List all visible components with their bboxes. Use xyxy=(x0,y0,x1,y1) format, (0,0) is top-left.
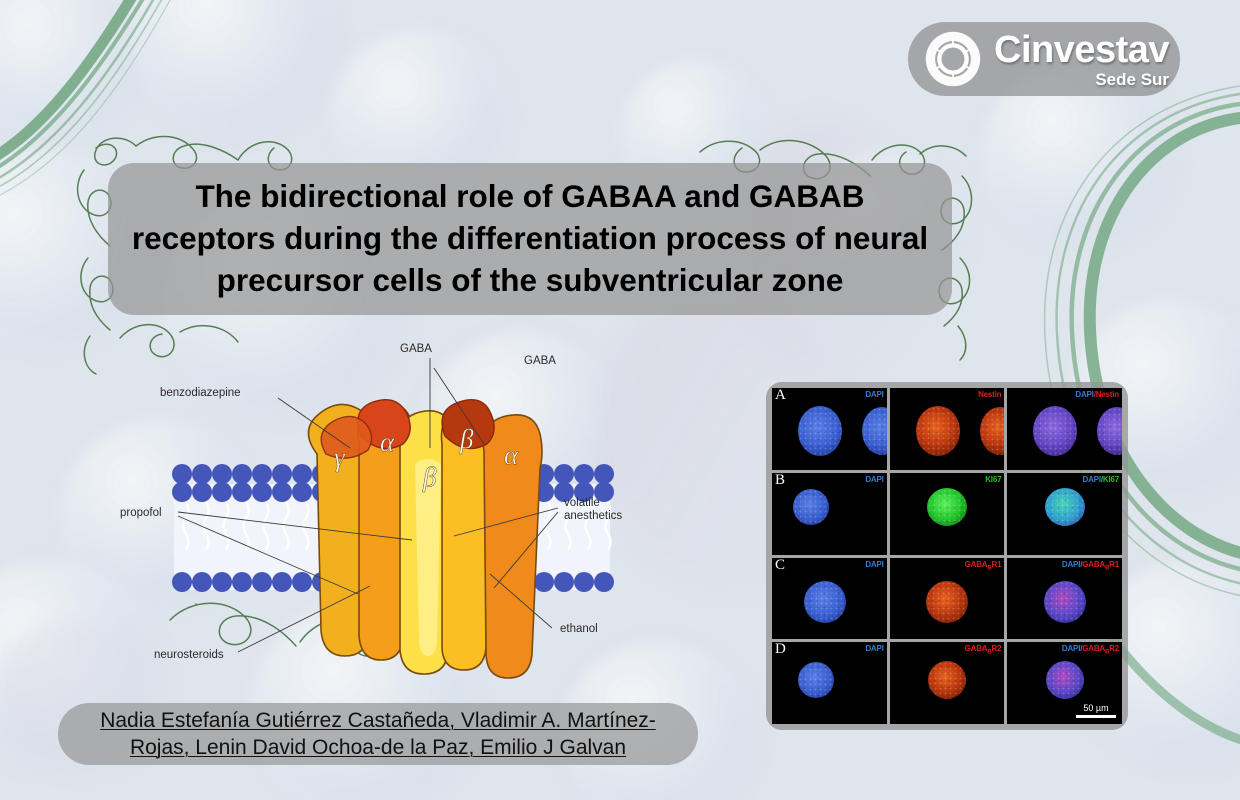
author-plaque: Nadia Estefanía Gutiérrez Castañeda, Vla… xyxy=(58,703,698,765)
cell-blob xyxy=(1046,661,1084,699)
micro-panel[interactable]: DAPI/Nestin xyxy=(1007,388,1122,470)
author-list: Nadia Estefanía Gutiérrez Castañeda, Vla… xyxy=(58,707,698,762)
cell-blob xyxy=(927,488,967,526)
micro-panel[interactable]: KI67 xyxy=(890,473,1005,555)
panel-channel-tag: DAPI/KI67 xyxy=(1083,475,1119,484)
cell-blob xyxy=(1097,407,1122,455)
panel-channel-tag: DAPI xyxy=(865,475,883,484)
micro-panel[interactable]: GABABR1 xyxy=(890,558,1005,640)
micro-panel[interactable]: GABABR2 xyxy=(890,642,1005,724)
panel-channel-tag: DAPI/Nestin xyxy=(1075,390,1119,399)
micro-panel[interactable]: A DAPI xyxy=(772,388,887,470)
micro-panel[interactable]: B DAPI xyxy=(772,473,887,555)
panel-channel-tag: DAPI/GABABR1 xyxy=(1062,560,1119,572)
immunofluorescence-figure-card: A DAPI Nestin DAPI/Nestin B DAPI xyxy=(766,382,1128,730)
cell-blob xyxy=(798,406,842,456)
panel-letter: B xyxy=(775,473,785,489)
subunit-label-gamma: γ xyxy=(334,442,346,472)
cell-blob xyxy=(798,662,834,698)
microscopy-panel-grid: A DAPI Nestin DAPI/Nestin B DAPI xyxy=(772,388,1122,724)
cell-blob xyxy=(1033,406,1077,456)
panel-channel-tag: DAPI xyxy=(865,390,883,399)
diagram-label-gaba-right: GABA xyxy=(524,355,556,367)
cell-blob xyxy=(793,489,829,525)
panel-channel-tag: DAPI xyxy=(865,644,883,653)
diagram-label-propofol: propofol xyxy=(120,507,162,519)
panel-letter: A xyxy=(775,388,786,404)
cell-blob xyxy=(1045,488,1085,526)
diagram-label-gaba-top: GABA xyxy=(400,343,432,355)
presentation-slide: Cinvestav Sede Sur The bidirectional rol… xyxy=(0,0,1240,800)
cell-blob xyxy=(928,661,966,699)
subunit-label-beta-right: β xyxy=(459,424,474,454)
diagram-label-anesthetics: anesthetics xyxy=(564,510,622,522)
cell-blob xyxy=(862,407,887,455)
panel-channel-tag: GABABR2 xyxy=(965,644,1002,656)
gaba-a-receptor-diagram: γ α β β α GABA GABA benzodiazepine propo… xyxy=(112,336,672,708)
logo-name: Cinvestav xyxy=(994,31,1169,69)
micro-panel[interactable]: DAPI/GABABR1 xyxy=(1007,558,1122,640)
micro-panel[interactable]: D DAPI xyxy=(772,642,887,724)
diagram-label-benzodiazepine: benzodiazepine xyxy=(160,387,241,399)
subunit-label-beta-center: β xyxy=(422,462,437,492)
cinvestav-logo: Cinvestav Sede Sur xyxy=(908,22,1180,96)
panel-channel-tag: DAPI xyxy=(865,560,883,569)
cinvestav-gear-icon xyxy=(922,28,984,90)
cell-blob xyxy=(926,581,968,623)
scale-bar: 50 µm xyxy=(1076,703,1116,718)
panel-letter: C xyxy=(775,558,785,574)
subunit-label-alpha-left: α xyxy=(380,427,395,457)
diagram-label-volatile: volatile xyxy=(564,497,600,509)
scale-bar-label: 50 µm xyxy=(1076,703,1116,713)
page-title: The bidirectional role of GABAA and GABA… xyxy=(108,176,952,302)
panel-channel-tag: KI67 xyxy=(985,475,1001,484)
diagram-label-ethanol: ethanol xyxy=(560,623,598,635)
cell-blob xyxy=(804,581,846,623)
logo-subtitle: Sede Sur xyxy=(994,71,1169,88)
micro-panel[interactable]: DAPI/KI67 xyxy=(1007,473,1122,555)
scale-bar-line xyxy=(1076,715,1116,718)
panel-channel-tag: DAPI/GABABR2 xyxy=(1062,644,1119,656)
panel-letter: D xyxy=(775,642,786,658)
diagram-label-neurosteroids: neurosteroids xyxy=(154,649,224,661)
micro-panel[interactable]: C DAPI xyxy=(772,558,887,640)
subunit-label-alpha-right: α xyxy=(504,440,519,470)
cell-blob xyxy=(916,406,960,456)
panel-channel-tag: Nestin xyxy=(978,390,1001,399)
panel-channel-tag: GABABR1 xyxy=(965,560,1002,572)
cell-blob xyxy=(1044,581,1086,623)
micro-panel[interactable]: Nestin xyxy=(890,388,1005,470)
cell-blob xyxy=(980,407,1005,455)
micro-panel[interactable]: DAPI/GABABR2 50 µm xyxy=(1007,642,1122,724)
title-plaque: The bidirectional role of GABAA and GABA… xyxy=(108,163,952,315)
